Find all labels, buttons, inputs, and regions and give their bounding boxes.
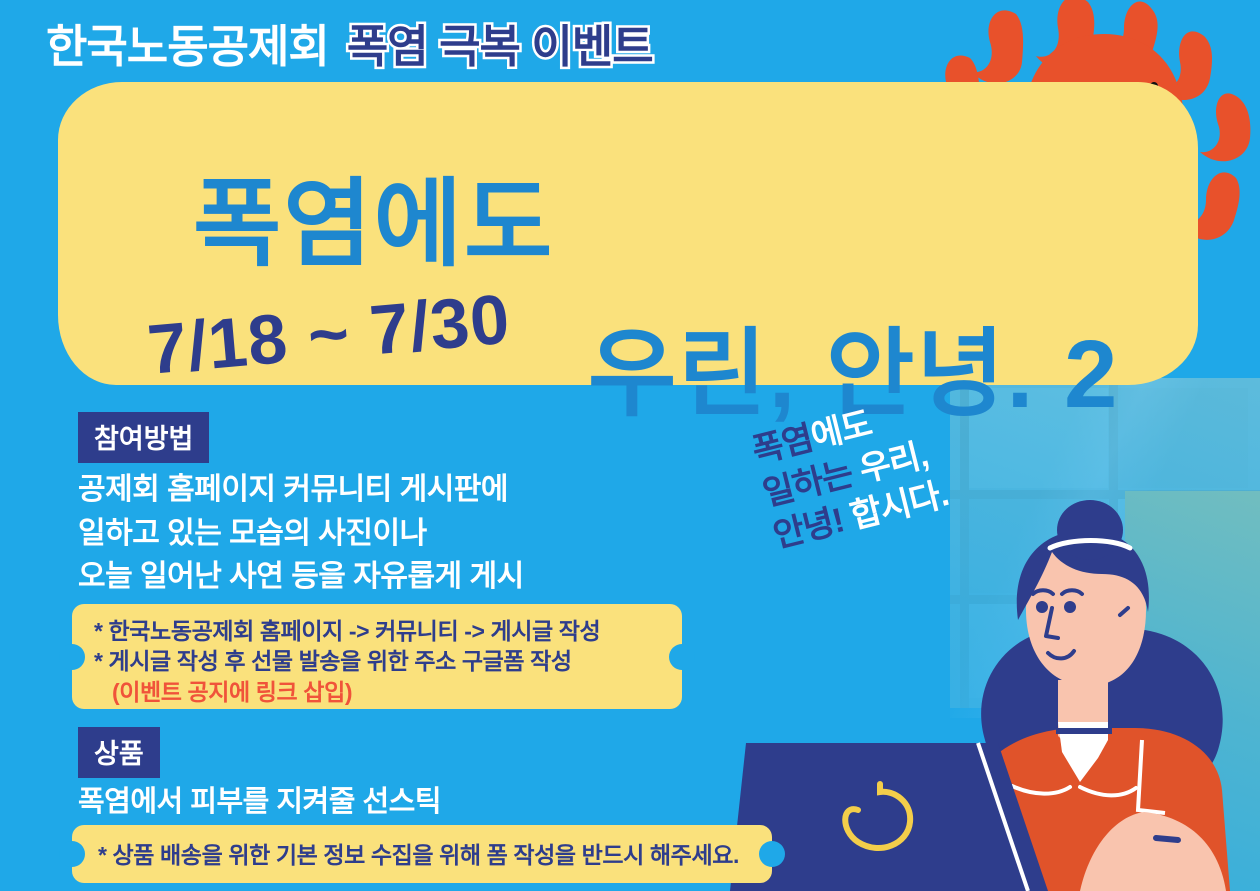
header-org-name: 한국노동공제회: [46, 10, 329, 75]
section-badge-prize: 상품: [78, 727, 160, 778]
method-ticket-box: * 한국노동공제회 홈페이지 -> 커뮤니티 -> 게시글 작성 * 게시글 작…: [72, 604, 682, 709]
section-badge-method: 참여방법: [78, 412, 209, 463]
header-event-name: 폭염 극복 이벤트: [347, 10, 653, 75]
header-title: 한국노동공제회 폭염 극복 이벤트: [46, 10, 653, 75]
method-ticket-line-1: * 한국노동공제회 홈페이지 -> 커뮤니티 -> 게시글 작성: [94, 616, 600, 646]
method-line-1: 공제회 홈페이지 커뮤니티 게시판에: [78, 468, 524, 512]
method-line-2: 일하고 있는 모습의 사진이나: [78, 512, 524, 556]
hero-line-1: 폭염에도: [193, 177, 554, 273]
method-ticket-content: * 한국노동공제회 홈페이지 -> 커뮤니티 -> 게시글 작성 * 게시글 작…: [94, 616, 600, 707]
method-ticket-line-3: (이벤트 공지에 링크 삽입): [94, 677, 600, 707]
poster-canvas: 한국노동공제회 폭염 극복 이벤트 폭염에도 7/18 ~ 7/30 우린, 안…: [0, 0, 1260, 891]
prize-ticket-line-1: * 상품 배송을 위한 기본 정보 수집을 위해 폼 작성을 반드시 해주세요.: [98, 840, 739, 870]
prize-ticket-box: * 상품 배송을 위한 기본 정보 수집을 위해 폼 작성을 반드시 해주세요.: [72, 825, 772, 883]
hero-banner: 폭염에도 7/18 ~ 7/30 우린, 안녕. 2: [58, 82, 1198, 385]
method-line-3: 오늘 일어난 사연 등을 자유롭게 게시: [78, 555, 524, 599]
method-description: 공제회 홈페이지 커뮤니티 게시판에 일하고 있는 모습의 사진이나 오늘 일어…: [78, 468, 524, 599]
prize-description: 폭염에서 피부를 지켜줄 선스틱: [78, 778, 441, 820]
method-ticket-line-2: * 게시글 작성 후 선물 발송을 위한 주소 구글폼 작성: [94, 646, 600, 676]
prize-ticket-content: * 상품 배송을 위한 기본 정보 수집을 위해 폼 작성을 반드시 해주세요.: [98, 840, 739, 870]
hero-date-range: 7/18 ~ 7/30: [145, 283, 513, 384]
